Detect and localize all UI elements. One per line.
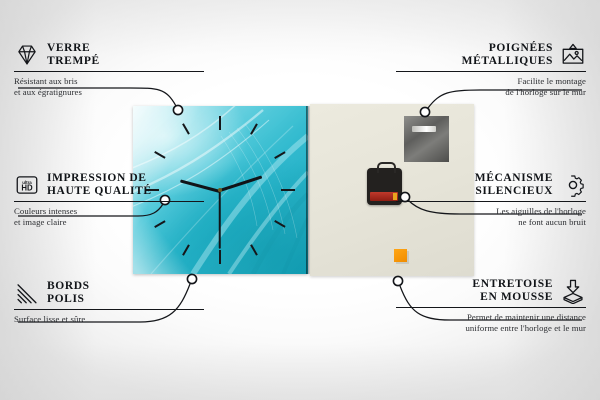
divider xyxy=(14,71,204,72)
feature-desc-2: uniforme entre l'horloge et le mur xyxy=(396,323,586,334)
feature-title-2: HAUTE QUALITÉ xyxy=(47,185,152,198)
feature-desc: Surface lisse et sûre xyxy=(14,314,204,325)
feature-desc: Facilite le montage xyxy=(396,76,586,87)
center-pin xyxy=(218,188,222,192)
hour-tick xyxy=(219,250,221,264)
down-arrow-foam-icon xyxy=(560,278,586,304)
feature-title: BORDS xyxy=(47,280,90,293)
hour-tick xyxy=(182,123,189,134)
diamond-icon xyxy=(14,42,40,68)
feature-title: POIGNÉES xyxy=(462,42,553,55)
picture-frame-icon xyxy=(560,42,586,68)
hour-tick xyxy=(154,151,165,158)
divider xyxy=(396,201,586,202)
divider xyxy=(396,307,586,308)
feature-title-2: EN MOUSSE xyxy=(472,291,553,304)
feature-title-2: MÉTALLIQUES xyxy=(462,55,553,68)
feature-desc: Résistant aux bris xyxy=(14,76,204,87)
metal-hanger-plate xyxy=(404,116,449,162)
ultra-hd-badge-icon: ultra HD xyxy=(14,172,40,198)
hour-tick xyxy=(281,189,295,191)
polished-edge-icon xyxy=(14,280,40,306)
feature-tempered-glass: VERRE TREMPÉ Résistant aux bris et aux é… xyxy=(14,42,204,98)
feature-title-2: SILENCIEUX xyxy=(475,185,553,198)
hour-tick xyxy=(274,151,285,158)
feature-silent-mechanism: MÉCANISME SILENCIEUX Les aiguilles de l'… xyxy=(396,172,586,228)
feature-desc-2: ne font aucun bruit xyxy=(396,217,586,228)
badge-bottom-text: HD xyxy=(21,184,33,193)
feature-desc-2: de l'horloge sur le mur xyxy=(396,87,586,98)
divider xyxy=(396,71,586,72)
second-hand xyxy=(219,191,221,249)
feature-desc: Les aiguilles de l'horloge xyxy=(396,206,586,217)
feature-title-2: TREMPÉ xyxy=(47,55,100,68)
hour-hand xyxy=(219,175,262,192)
battery xyxy=(370,192,398,201)
hour-tick xyxy=(250,123,257,134)
hour-tick xyxy=(250,244,257,255)
feature-polished-edges: BORDS POLIS Surface lisse et sûre xyxy=(14,280,204,325)
panel-edge-shadow xyxy=(306,106,310,274)
hour-tick xyxy=(182,244,189,255)
hour-tick xyxy=(274,220,285,227)
feature-foam-spacer: ENTRETOISE EN MOUSSE Permet de maintenir… xyxy=(396,278,586,334)
feature-desc-2: et image claire xyxy=(14,217,204,228)
feature-title: VERRE xyxy=(47,42,100,55)
feature-title: IMPRESSION DE xyxy=(47,172,152,185)
feature-title: ENTRETOISE xyxy=(472,278,553,291)
feature-desc: Couleurs intenses xyxy=(14,206,204,217)
orange-foam-spacer xyxy=(394,249,407,262)
hanger-loop-icon xyxy=(377,162,396,173)
infographic-canvas: VERRE TREMPÉ Résistant aux bris et aux é… xyxy=(0,0,600,400)
feature-hd-print: ultra HD IMPRESSION DE HAUTE QUALITÉ Cou… xyxy=(14,172,204,228)
hour-tick xyxy=(219,116,221,130)
divider xyxy=(14,309,204,310)
divider xyxy=(14,201,204,202)
feature-desc-2: et aux égratignures xyxy=(14,87,204,98)
gear-icon xyxy=(560,172,586,198)
feature-title-2: POLIS xyxy=(47,293,90,306)
feature-metal-handles: POIGNÉES MÉTALLIQUES Facilite le montage… xyxy=(396,42,586,98)
feature-title: MÉCANISME xyxy=(475,172,553,185)
feature-desc: Permet de maintenir une distance xyxy=(396,312,586,323)
